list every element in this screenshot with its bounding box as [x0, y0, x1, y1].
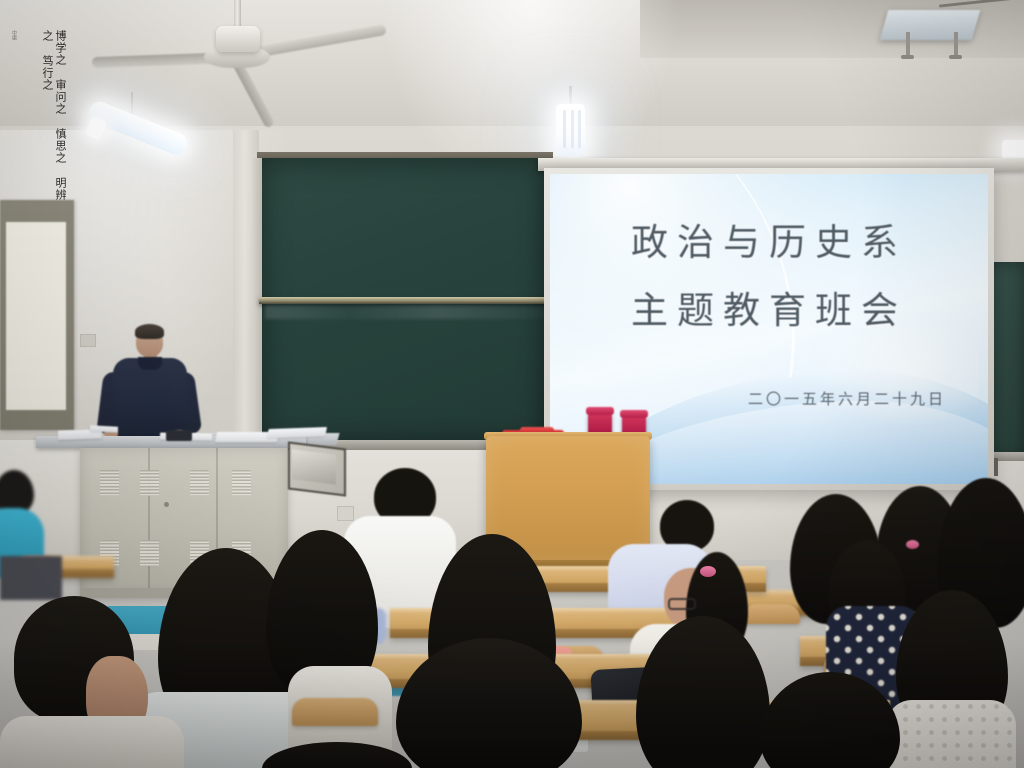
cabinet-vent [140, 470, 159, 496]
hair-tie [700, 566, 716, 577]
slide-title-line-1: 政治与历史系 [550, 214, 988, 272]
ceiling-fan-motor [216, 26, 260, 52]
projector-mount-foot [949, 55, 962, 59]
thermos-lid [620, 410, 648, 418]
scroll-paper [6, 222, 66, 410]
cabinet-vent [232, 470, 251, 496]
pendant-lamp [556, 104, 585, 156]
teacher-polo-shirt [113, 358, 187, 440]
eyeglasses [668, 598, 696, 610]
cabinet-knob[interactable] [164, 502, 169, 507]
hair-tie [906, 540, 919, 549]
cabinet-vent [140, 540, 159, 566]
blackboard-slide-rail [259, 297, 552, 304]
projector-mount-arm [954, 32, 958, 56]
bench-seat-back [742, 604, 800, 624]
classroom-scene: 博学之 审问之 慎思之 明辨之 笃行之 中庸 政治与历史系 主题教育班会 二〇一… [0, 0, 1024, 768]
slide-arc-decoration [550, 174, 836, 378]
wall-box-panel [292, 449, 336, 484]
blackboard-chalk-smudge [265, 305, 545, 319]
wall-plate [80, 334, 96, 347]
ceiling-projector [880, 10, 981, 40]
dark-object-on-desk [166, 430, 192, 441]
slide-title-line-2: 主题教育班会 [550, 282, 988, 340]
cabinet-vent [190, 470, 209, 496]
projector-mount-foot [901, 55, 914, 59]
student-shirt [0, 716, 184, 768]
chair-back-left [0, 556, 62, 600]
wall-socket [337, 506, 354, 521]
scroll-signature-text: 中庸 [7, 30, 17, 120]
thermos-lid [586, 407, 614, 415]
bench-seat-back [292, 698, 378, 726]
projector-mount-arm [906, 32, 910, 56]
cabinet-vent [100, 470, 119, 496]
slide-date-text: 二〇一五年六月二十九日 [748, 388, 946, 409]
ceiling-light-right [1002, 140, 1024, 160]
teacher-hair [135, 324, 164, 339]
scroll-calligraphy-text: 博学之 审问之 慎思之 明辨之 笃行之 [8, 26, 68, 216]
calligraphy-scroll [0, 200, 74, 430]
teacher-collar [138, 357, 162, 370]
student-lace-blouse [886, 700, 1016, 768]
